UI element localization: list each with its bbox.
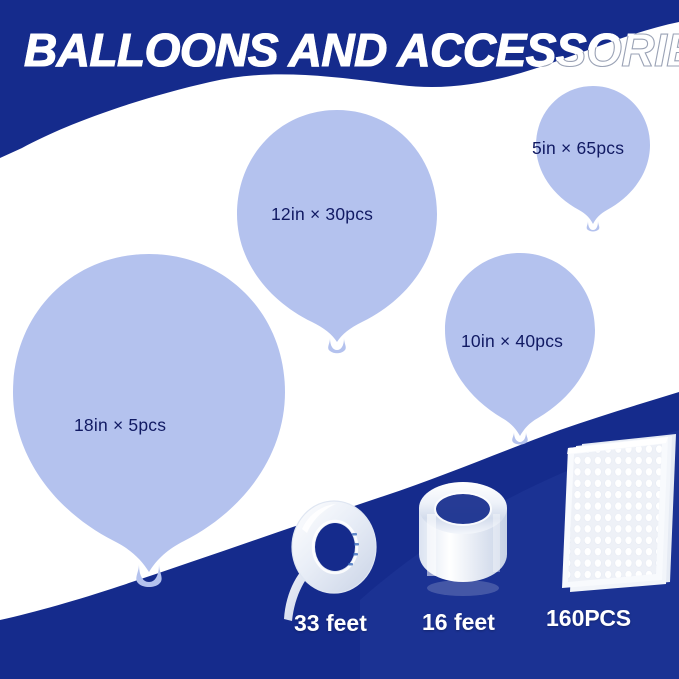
tape-roll: 16 feet	[405, 478, 525, 613]
balloon-5in-label: 5in × 65pcs	[532, 138, 624, 159]
ribbon-roll-caption: 33 feet	[294, 610, 367, 637]
tape-roll-sheen-2	[493, 514, 500, 572]
balloon-10in: 10in × 40pcs	[442, 251, 598, 445]
balloon-18in-label: 18in × 5pcs	[74, 415, 166, 436]
balloon-18in-body	[13, 254, 285, 572]
balloon-10in-label: 10in × 40pcs	[461, 331, 563, 352]
glue-dot-sheet-caption-number: 160	[546, 605, 584, 631]
glue-dot-sheet: 160PCS	[552, 432, 679, 599]
tape-roll-hole	[436, 494, 490, 524]
ribbon-roll: 33 feet	[268, 495, 398, 635]
balloon-5in: 5in × 65pcs	[534, 84, 652, 232]
balloon-12in-label: 12in × 30pcs	[271, 204, 373, 225]
glue-dot-grid	[562, 440, 672, 590]
tape-roll-caption: 16 feet	[422, 609, 495, 636]
product-infographic: BALLOONS AND ACCESSORIES BALLOONS AND AC…	[0, 0, 679, 679]
tape-roll-sheen-1	[427, 514, 436, 576]
glue-dot-sheet-caption-unit: PCS	[584, 605, 630, 631]
glue-dot-sheet-caption: 160PCS	[546, 605, 631, 632]
balloon-18in: 18in × 5pcs	[8, 252, 290, 588]
tape-roll-reflection	[427, 580, 499, 596]
